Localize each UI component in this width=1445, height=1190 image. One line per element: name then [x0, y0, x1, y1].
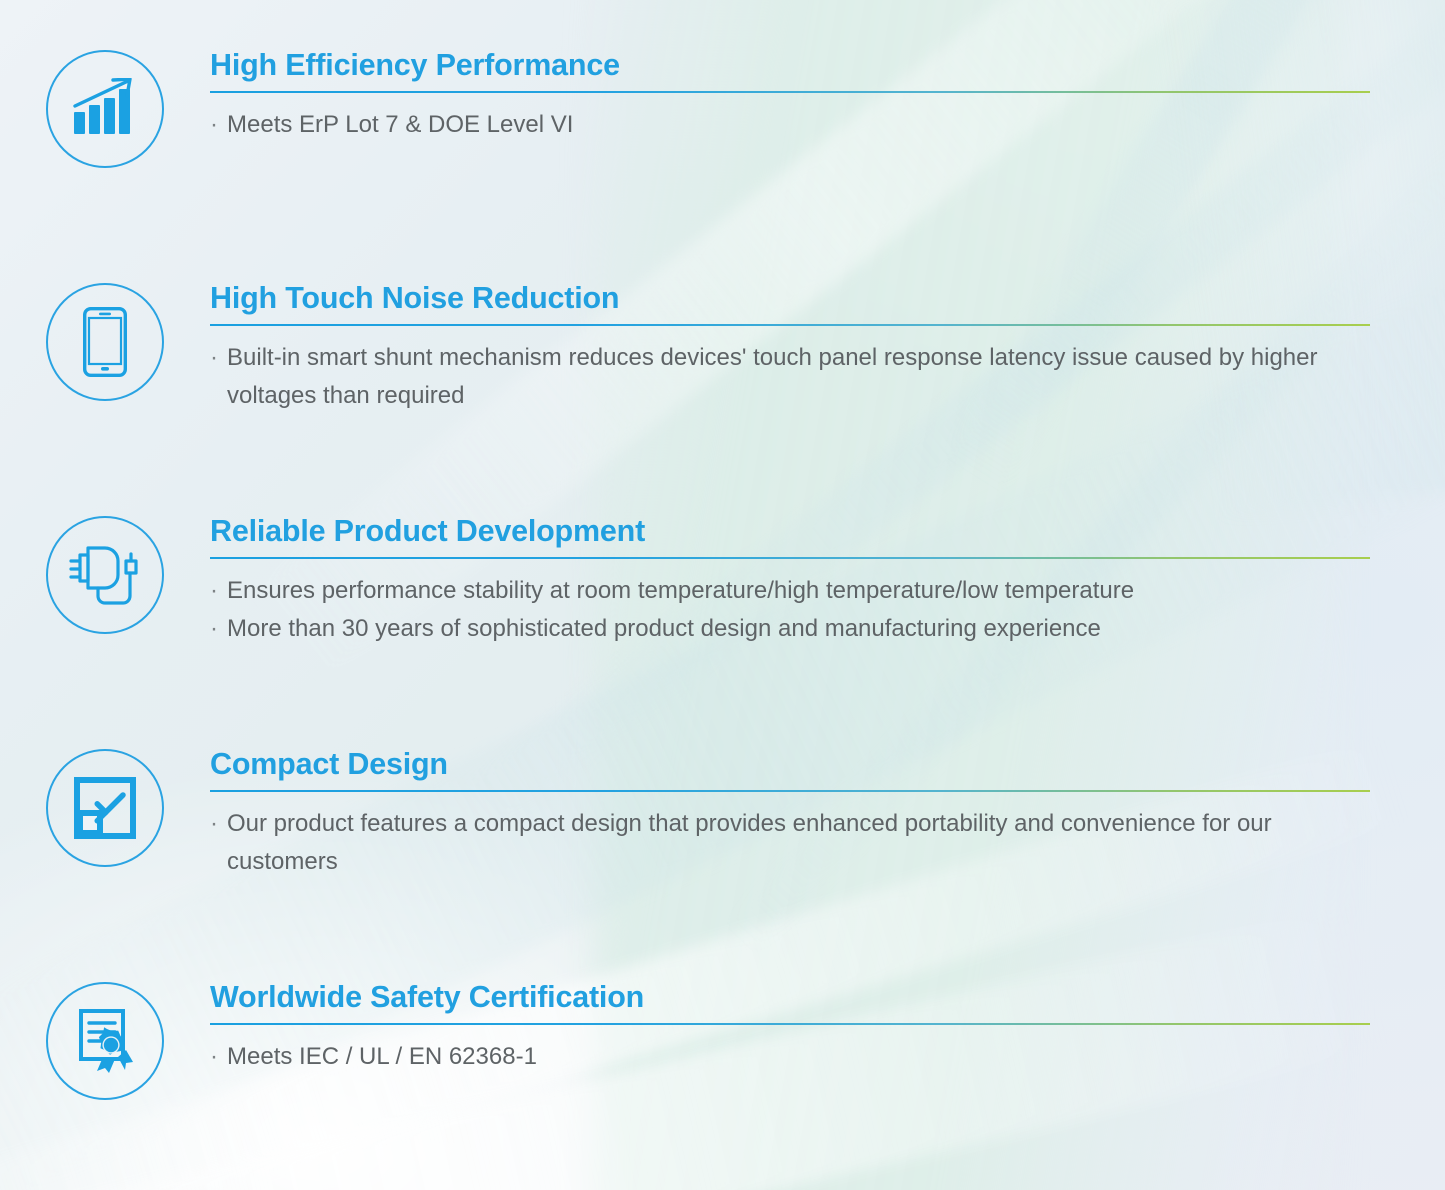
feature-bullet: · Built-in smart shunt mechanism reduces…: [210, 339, 1375, 414]
feature-item-compact-design: Compact Design · Our product features a …: [0, 747, 1445, 880]
bar-chart-growth-icon: [72, 78, 138, 140]
bullet-text: Ensures performance stability at room te…: [227, 572, 1375, 609]
feature-bullet-list: · Ensures performance stability at room …: [210, 572, 1375, 647]
feature-divider: [210, 790, 1370, 792]
bullet-text: Meets ErP Lot 7 & DOE Level VI: [227, 106, 1375, 143]
bullet-marker: ·: [210, 572, 227, 609]
bullet-text: More than 30 years of sophisticated prod…: [227, 610, 1375, 647]
feature-item-worldwide-safety-certification: Worldwide Safety Certification · Meets I…: [0, 980, 1445, 1100]
feature-title: High Efficiency Performance: [210, 48, 1375, 82]
feature-divider: [210, 557, 1370, 559]
feature-bullet-list: · Our product features a compact design …: [210, 805, 1375, 880]
feature-icon-cell: [0, 514, 210, 634]
feature-bullet: · Meets ErP Lot 7 & DOE Level VI: [210, 106, 1375, 143]
bullet-marker: ·: [210, 805, 227, 842]
compact-resize-icon: [74, 777, 136, 839]
feature-bullet: · Meets IEC / UL / EN 62368-1: [210, 1038, 1375, 1075]
feature-title: Reliable Product Development: [210, 514, 1375, 548]
icon-circle-frame: [46, 516, 164, 634]
feature-title: Worldwide Safety Certification: [210, 980, 1375, 1014]
feature-divider: [210, 324, 1370, 326]
icon-circle-frame: [46, 749, 164, 867]
feature-item-reliable-product-development: Reliable Product Development · Ensures p…: [0, 514, 1445, 647]
feature-bullet-list: · Built-in smart shunt mechanism reduces…: [210, 339, 1375, 414]
feature-divider: [210, 91, 1370, 93]
smartphone-icon: [83, 307, 127, 377]
icon-circle-frame: [46, 982, 164, 1100]
feature-text-cell: Compact Design · Our product features a …: [210, 747, 1445, 880]
feature-text-cell: Reliable Product Development · Ensures p…: [210, 514, 1445, 647]
bullet-marker: ·: [210, 106, 227, 143]
feature-bullet-list: · Meets ErP Lot 7 & DOE Level VI: [210, 106, 1375, 143]
feature-divider: [210, 1023, 1370, 1025]
certificate-seal-icon: [73, 1007, 137, 1075]
feature-title: Compact Design: [210, 747, 1375, 781]
icon-circle-frame: [46, 283, 164, 401]
bullet-marker: ·: [210, 1038, 227, 1075]
feature-title: High Touch Noise Reduction: [210, 281, 1375, 315]
bullet-marker: ·: [210, 339, 227, 376]
bullet-text: Built-in smart shunt mechanism reduces d…: [227, 339, 1375, 414]
feature-text-cell: High Touch Noise Reduction · Built-in sm…: [210, 281, 1445, 414]
feature-text-cell: High Efficiency Performance · Meets ErP …: [210, 48, 1445, 144]
feature-list: High Efficiency Performance · Meets ErP …: [0, 0, 1445, 1190]
icon-circle-frame: [46, 50, 164, 168]
feature-bullet-list: · Meets IEC / UL / EN 62368-1: [210, 1038, 1375, 1075]
bullet-text: Meets IEC / UL / EN 62368-1: [227, 1038, 1375, 1075]
feature-bullet: · Ensures performance stability at room …: [210, 572, 1375, 609]
feature-item-high-touch-noise-reduction: High Touch Noise Reduction · Built-in sm…: [0, 281, 1445, 414]
feature-item-high-efficiency-performance: High Efficiency Performance · Meets ErP …: [0, 48, 1445, 168]
feature-icon-cell: [0, 747, 210, 867]
feature-bullet: · More than 30 years of sophisticated pr…: [210, 610, 1375, 647]
feature-icon-cell: [0, 281, 210, 401]
feature-bullet: · Our product features a compact design …: [210, 805, 1375, 880]
feature-icon-cell: [0, 48, 210, 168]
bullet-marker: ·: [210, 610, 227, 647]
bullet-text: Our product features a compact design th…: [227, 805, 1375, 880]
feature-text-cell: Worldwide Safety Certification · Meets I…: [210, 980, 1445, 1076]
power-adapter-icon: [67, 542, 143, 608]
feature-icon-cell: [0, 980, 210, 1100]
